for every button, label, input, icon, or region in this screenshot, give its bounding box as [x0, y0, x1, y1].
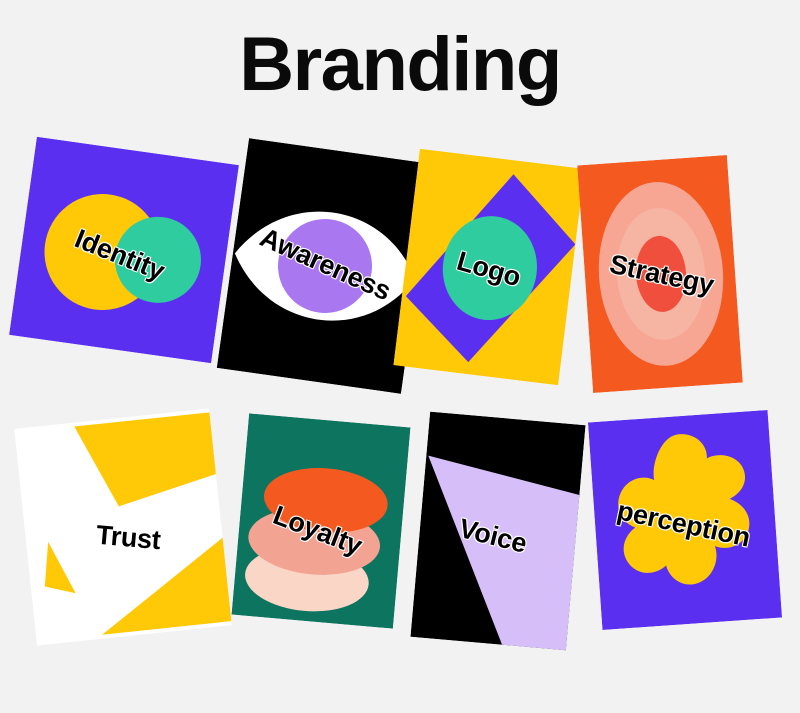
page-title: Branding	[0, 22, 800, 108]
card-logo[interactable]: Logo	[393, 149, 584, 386]
diamond-circle-icon	[393, 149, 584, 386]
blob-star-icon	[588, 410, 782, 630]
overlapping-circles-icon	[9, 137, 239, 363]
stacked-ellipses-icon	[232, 413, 411, 628]
card-identity[interactable]: Identity	[9, 137, 239, 363]
card-perception[interactable]: perception	[588, 410, 782, 630]
poster-canvas: Branding Identity Awareness	[0, 0, 800, 713]
target-rings-icon	[577, 155, 743, 393]
card-strategy[interactable]: Strategy	[577, 155, 743, 393]
card-voice[interactable]: Voice	[410, 412, 585, 651]
megaphone-wedge-icon	[410, 412, 585, 651]
triangles-icon	[14, 408, 232, 645]
card-trust[interactable]: Trust	[14, 408, 232, 645]
card-loyalty[interactable]: Loyalty	[232, 413, 411, 628]
